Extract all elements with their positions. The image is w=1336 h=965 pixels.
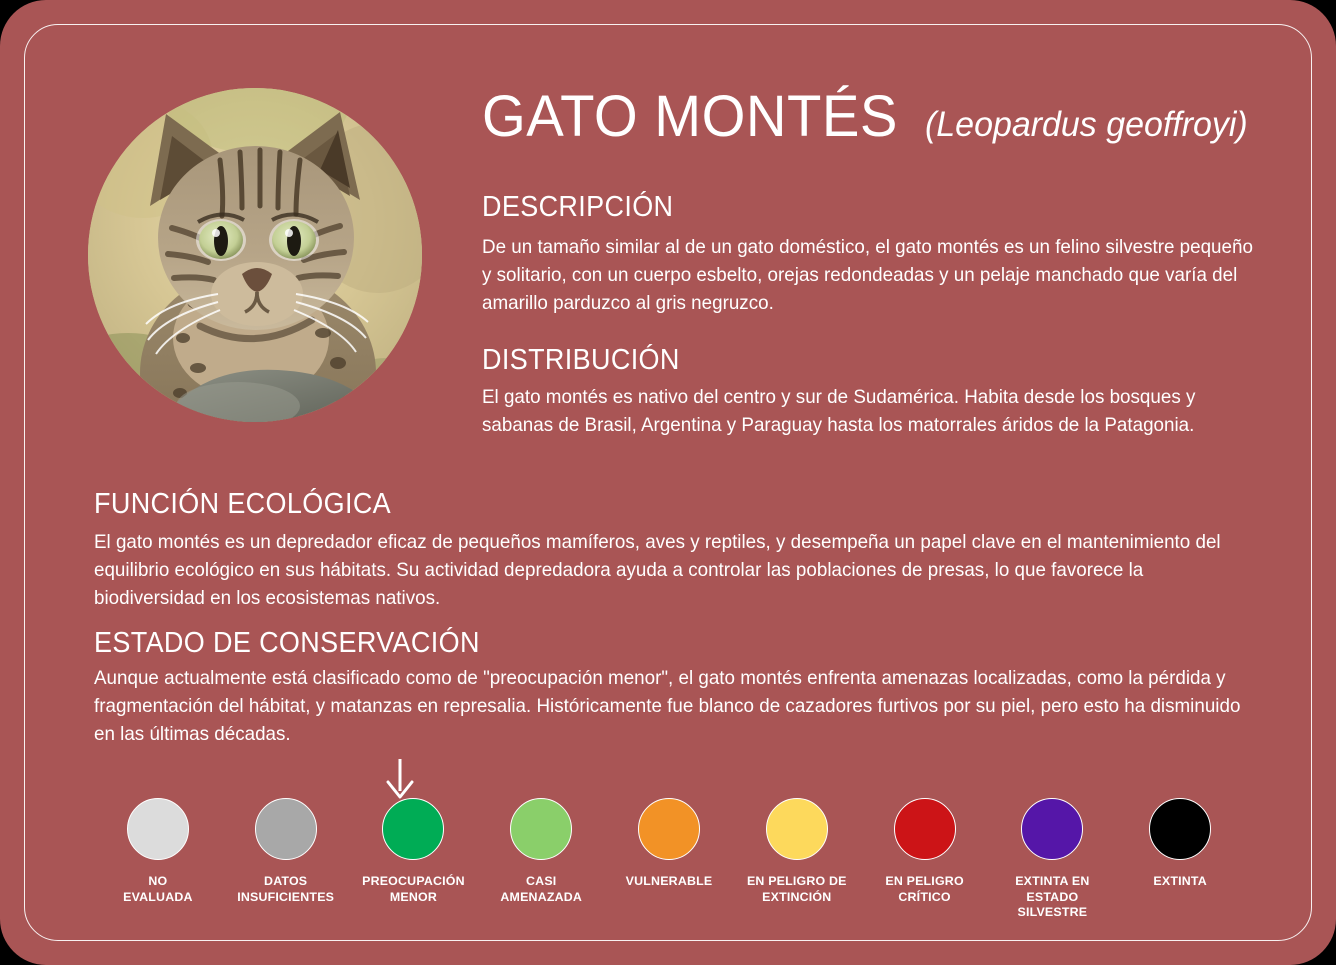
status-item-vulnerable[interactable]: VULNERABLE xyxy=(605,798,733,890)
status-label-no-evaluada: NO EVALUADA xyxy=(123,874,193,905)
status-item-extinta[interactable]: EXTINTA xyxy=(1116,798,1244,890)
status-dot-extinta[interactable] xyxy=(1149,798,1211,860)
section-body-funcion-ecologica: El gato montés es un depredador eficaz d… xyxy=(94,528,1238,613)
status-label-en-peligro-de-extincion: EN PELIGRO DE EXTINCIÓN xyxy=(747,874,847,905)
section-descripcion: DESCRIPCIÓN De un tamaño similar al de u… xyxy=(482,192,1272,318)
section-distribucion: DISTRIBUCIÓN El gato montés es nativo de… xyxy=(482,345,1272,439)
species-common-name: GATO MONTÉS xyxy=(482,88,898,146)
status-label-casi-amenazada: CASI AMENAZADA xyxy=(500,874,582,905)
status-item-preocupacion-menor[interactable]: PREOCUPACIÓN MENOR xyxy=(350,798,478,905)
status-dot-datos-insuficientes[interactable] xyxy=(255,798,317,860)
status-label-extinta: EXTINTA xyxy=(1153,874,1207,890)
status-label-preocupacion-menor: PREOCUPACIÓN MENOR xyxy=(362,874,465,905)
status-label-en-peligro-critico: EN PELIGRO CRÍTICO xyxy=(885,874,963,905)
species-info-card: GATO MONTÉS (Leopardus geoffroyi) DESCRI… xyxy=(0,0,1336,965)
page-title: GATO MONTÉS (Leopardus geoffroyi) xyxy=(482,88,1272,146)
status-dot-en-peligro-de-extincion[interactable] xyxy=(766,798,828,860)
section-estado-de-conservacion: ESTADO DE CONSERVACIÓN Aunque actualment… xyxy=(94,628,1254,749)
section-heading-estado-de-conservacion: ESTADO DE CONSERVACIÓN xyxy=(94,628,1173,660)
status-item-casi-amenazada[interactable]: CASI AMENAZADA xyxy=(477,798,605,905)
status-label-datos-insuficientes: DATOS INSUFICIENTES xyxy=(237,874,334,905)
status-item-datos-insuficientes[interactable]: DATOS INSUFICIENTES xyxy=(222,798,350,905)
status-item-extinta-en-estado-silvestre[interactable]: EXTINTA EN ESTADO SILVESTRE xyxy=(988,798,1116,921)
section-body-estado-de-conservacion: Aunque actualmente está clasificado como… xyxy=(94,664,1242,749)
status-dot-vulnerable[interactable] xyxy=(638,798,700,860)
section-body-descripcion: De un tamaño similar al de un gato domés… xyxy=(482,233,1254,318)
section-heading-distribucion: DISTRIBUCIÓN xyxy=(482,345,1217,377)
section-heading-descripcion: DESCRIPCIÓN xyxy=(482,192,1217,224)
status-item-en-peligro-de-extincion[interactable]: EN PELIGRO DE EXTINCIÓN xyxy=(733,798,861,905)
conservation-status-scale: NO EVALUADA DATOS INSUFICIENTES PREOCUPA… xyxy=(94,798,1244,921)
species-scientific-name: (Leopardus geoffroyi) xyxy=(925,107,1248,142)
status-dot-extinta-en-estado-silvestre[interactable] xyxy=(1021,798,1083,860)
status-dot-no-evaluada[interactable] xyxy=(127,798,189,860)
section-funcion-ecologica: FUNCIÓN ECOLÓGICA El gato montés es un d… xyxy=(94,489,1254,613)
species-photo xyxy=(88,88,422,422)
down-arrow-icon xyxy=(383,757,417,801)
status-dot-preocupacion-menor[interactable] xyxy=(382,798,444,860)
status-item-en-peligro-critico[interactable]: EN PELIGRO CRÍTICO xyxy=(861,798,989,905)
status-label-extinta-en-estado-silvestre: EXTINTA EN ESTADO SILVESTRE xyxy=(988,874,1116,921)
status-item-no-evaluada[interactable]: NO EVALUADA xyxy=(94,798,222,905)
status-dot-en-peligro-critico[interactable] xyxy=(894,798,956,860)
status-dot-casi-amenazada[interactable] xyxy=(510,798,572,860)
status-label-vulnerable: VULNERABLE xyxy=(626,874,713,890)
section-heading-funcion-ecologica: FUNCIÓN ECOLÓGICA xyxy=(94,489,1173,521)
section-body-distribucion: El gato montés es nativo del centro y su… xyxy=(482,383,1254,440)
